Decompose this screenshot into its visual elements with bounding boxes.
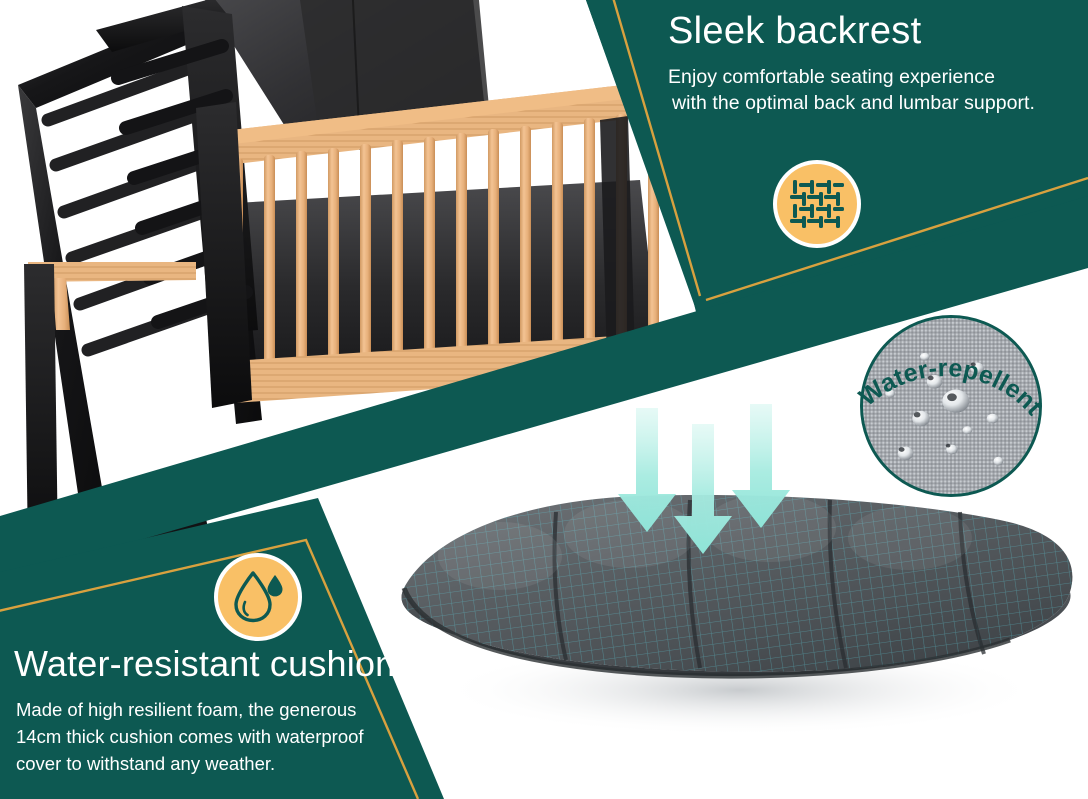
water-repellent-swatch (860, 315, 1042, 497)
body-line: cover to withstand any weather. (16, 751, 466, 778)
body-line: 14cm thick cushion comes with waterproof (16, 724, 466, 751)
infographic-canvas: Sleek backrest Enjoy comfortable seating… (0, 0, 1088, 799)
body-sleek-backrest: Enjoy comfortable seating experience wit… (668, 64, 1080, 117)
feature-badge-weave (773, 160, 861, 248)
water-droplet-icon (229, 569, 287, 625)
headline-sleek-backrest: Sleek backrest (668, 12, 1068, 52)
arrow-down-icon (618, 404, 790, 554)
headline-water-resistant-cushion: Water-resistant cushion (14, 645, 484, 683)
feature-badge-droplet (214, 553, 302, 641)
body-line: Made of high resilient foam, the generou… (16, 697, 466, 724)
body-line: Enjoy comfortable seating experience (668, 66, 995, 88)
body-line: with the optimal back and lumbar support… (668, 90, 1080, 116)
body-water-resistant-cushion: Made of high resilient foam, the generou… (16, 697, 466, 777)
weave-icon (789, 178, 845, 230)
